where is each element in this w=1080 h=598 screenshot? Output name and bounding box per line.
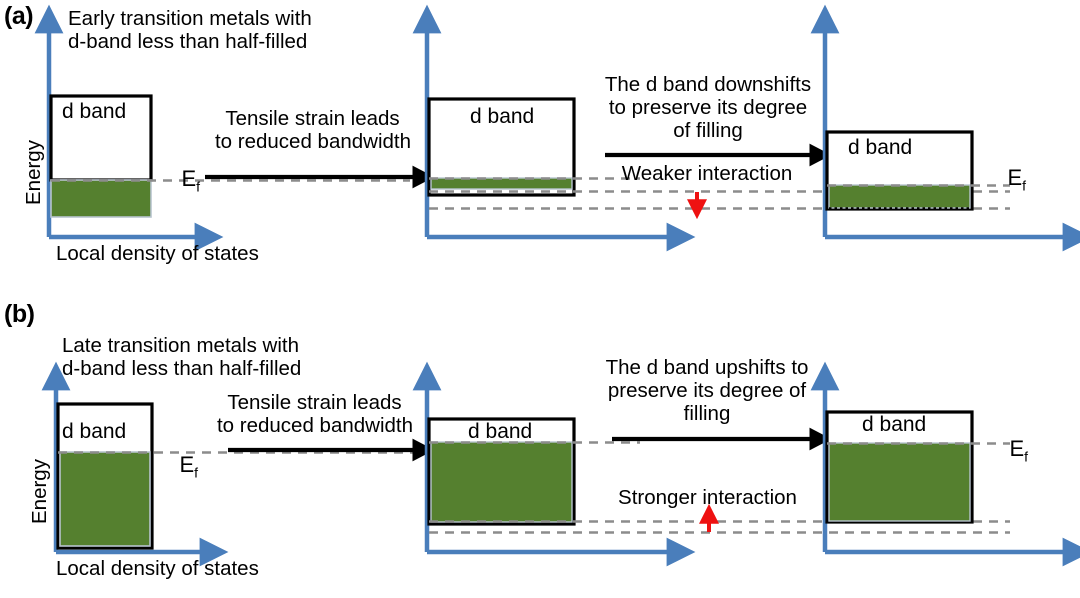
fermi-e: E (179, 452, 194, 477)
fermi-e: E (1007, 165, 1022, 190)
panel-a-strain-note-line1: Tensile strain leads (205, 108, 420, 131)
panel-b-strain-note-line2: to reduced bandwidth (205, 415, 425, 438)
fermi-subscript: f (196, 178, 200, 194)
fermi-subscript: f (1024, 448, 1028, 464)
panel-a-interaction-note: Weaker interaction (602, 163, 812, 186)
panel-b-y-axis-label: Energy (28, 459, 52, 524)
panel-b3-dband-label: d band (862, 413, 926, 437)
panel-b-x-axis-label: Local density of states (56, 558, 259, 581)
panel-a1-fermi-label: Ef (157, 142, 200, 219)
panel-b3-fermi-label: Ef (985, 412, 1028, 489)
panel-b-upshift-note-line3: filling (588, 403, 826, 426)
panel-a-strain-note-line2: to reduced bandwidth (203, 131, 423, 154)
panel-a1-dband-label: d band (62, 100, 126, 124)
panel-b-upshift-note-line1: The d band upshifts to (588, 357, 826, 380)
fermi-e: E (181, 166, 196, 191)
panel-a-caption-line1: Early transition metals with (68, 8, 312, 31)
panel-a3-dband-label: d band (848, 136, 912, 160)
panel-b-interaction-note: Stronger interaction (600, 487, 815, 510)
panel-label-a: (a) (4, 2, 33, 30)
fermi-subscript: f (194, 464, 198, 480)
panel-a2-dband-label: d band (470, 105, 534, 129)
panel-b-upshift-note-line2: preserve its degree of (588, 380, 826, 403)
panel-a-caption-line2: d-band less than half-filled (68, 31, 307, 54)
panel-a-x-axis-label: Local density of states (56, 243, 259, 266)
panel-b-caption-line2: d-band less than half-filled (62, 358, 301, 381)
fermi-e: E (1009, 436, 1024, 461)
diagram-graphics (0, 0, 1080, 598)
panel-b1-fermi-label: Ef (155, 428, 198, 505)
panel-b2-dband-label: d band (468, 420, 532, 444)
panel-b1-dband-label: d band (62, 420, 126, 444)
panel-a-downshift-note-line2: to preserve its degree (590, 97, 826, 120)
panel-a3-fermi-label: Ef (983, 141, 1026, 218)
figure-canvas: (a) Early transition metals with d-band … (0, 0, 1080, 598)
panel-a-y-axis-label: Energy (22, 140, 46, 205)
panel-b-caption-line1: Late transition metals with (62, 335, 299, 358)
fermi-subscript: f (1022, 177, 1026, 193)
panel-a-downshift-note-line1: The d band downshifts (590, 74, 826, 97)
panel-a-downshift-note-line3: of filling (590, 120, 826, 143)
panel-b-strain-note-line1: Tensile strain leads (207, 392, 422, 415)
panel-label-b: (b) (4, 300, 34, 328)
